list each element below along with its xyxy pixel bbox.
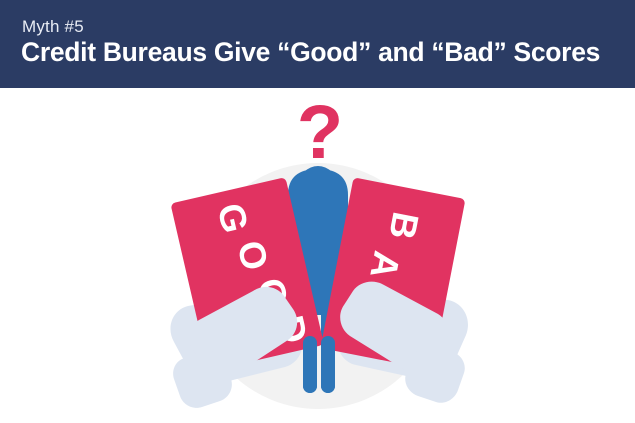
question-mark-glyph: ? [297,90,343,175]
myth-eyebrow-label: Myth #5 [22,18,84,35]
infographic-slide: Myth #5 Credit Bureaus Give “Good” and “… [0,0,635,423]
person-right-foot [321,336,335,393]
illustration-svg: ? G [0,88,635,423]
left-finger-shape [173,351,232,408]
person-head [299,166,337,204]
right-finger-shape [405,346,465,403]
page-title: Credit Bureaus Give “Good” and “Bad” Sco… [21,38,600,67]
person-left-foot [303,336,317,393]
header-band: Myth #5 Credit Bureaus Give “Good” and “… [0,0,635,88]
illustration: ? G [0,88,635,423]
question-mark-icon: ? [297,90,343,175]
